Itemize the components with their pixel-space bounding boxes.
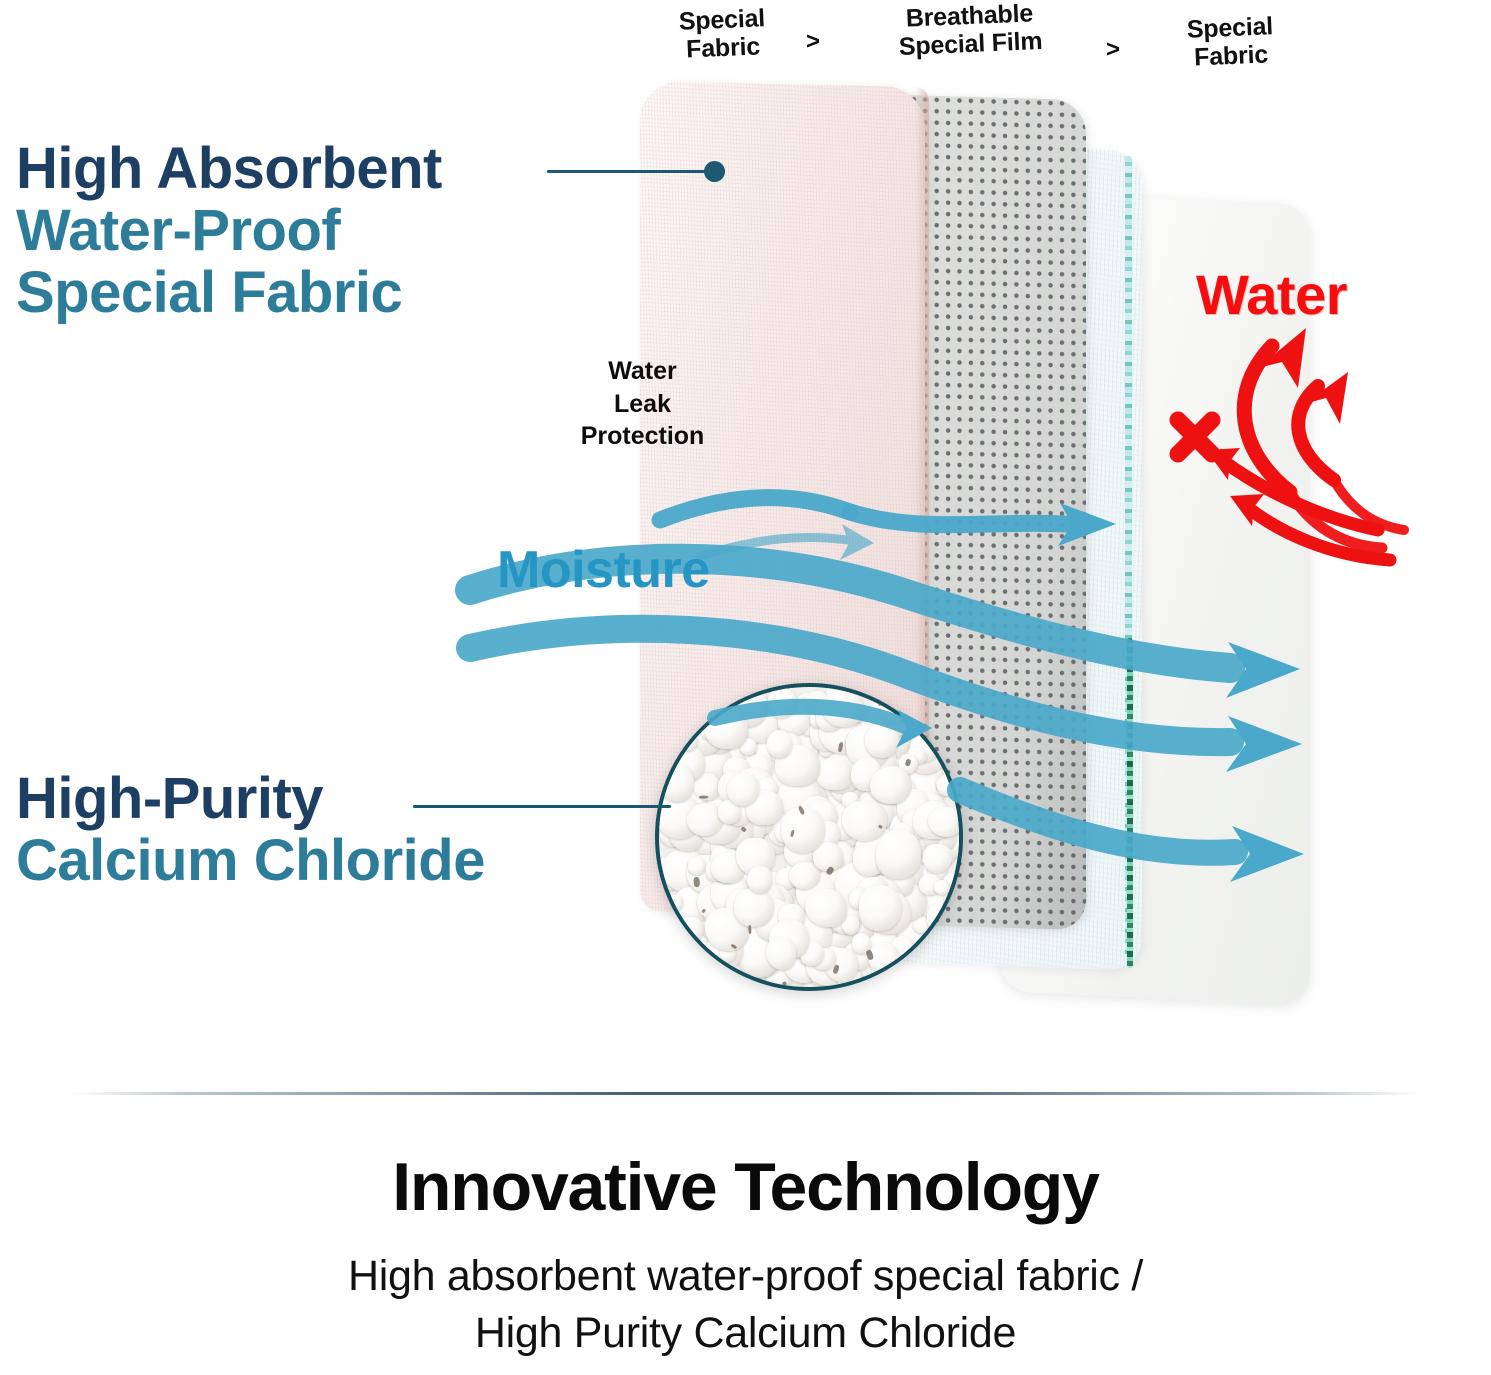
layer-separator-icon-1: >	[806, 28, 820, 56]
moisture-label: Moisture	[497, 540, 710, 600]
water-label: Water	[1196, 262, 1347, 327]
callout-bottom-line2: Calcium Chloride	[16, 830, 485, 892]
callout-top-line2: Water-Proof	[16, 200, 442, 262]
callout-top-leader-dot	[704, 161, 725, 182]
footer-subtitle: High absorbent water-proof special fabri…	[0, 1248, 1491, 1362]
calcium-chloride-beads	[655, 683, 963, 991]
layer-separator-icon-2: >	[1106, 36, 1120, 64]
layer-label-breathable-special-film: Breathable Special Film	[844, 0, 1096, 63]
callout-bottom-leader-line	[413, 805, 671, 808]
callout-top-line3: Special Fabric	[16, 262, 442, 324]
footer-title: Innovative Technology	[0, 1148, 1491, 1226]
callout-top-line1: High Absorbent	[16, 138, 442, 200]
layer-header-row: Special Fabric > Breathable Special Film…	[0, 0, 1491, 90]
callout-high-absorbent-fabric: High Absorbent Water-Proof Special Fabri…	[16, 138, 442, 324]
layer-label-special-fabric-front: Special Fabric	[639, 3, 806, 66]
infographic-canvas: Special Fabric > Breathable Special Film…	[0, 0, 1491, 1375]
callout-high-purity-calcium-chloride: High-Purity Calcium Chloride	[16, 768, 485, 892]
callout-top-leader-line	[547, 170, 715, 173]
water-leak-protection-label: Water Leak Protection	[545, 355, 740, 453]
calcium-chloride-closeup-circle	[655, 683, 963, 991]
layer-label-special-fabric-back: Special Fabric	[1147, 11, 1314, 74]
sheet-stitched-edge-lower	[1127, 638, 1133, 968]
callout-bottom-line1: High-Purity	[16, 768, 485, 830]
section-divider	[72, 1092, 1420, 1095]
